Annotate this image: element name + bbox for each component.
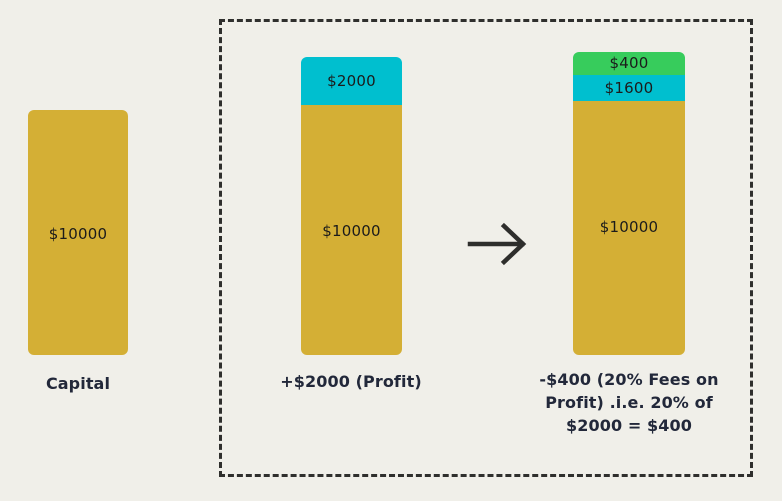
bar-caption-fees-line3: $2000 = $400	[509, 414, 749, 437]
bar-fees: $400 $1600 $10000	[573, 52, 685, 355]
bar-caption-fees-line1: -$400 (20% Fees on	[509, 368, 749, 391]
bar-caption-profit: +$2000 (Profit)	[251, 370, 451, 393]
bar-caption-capital: Capital	[8, 372, 148, 395]
bar-caption-fees: -$400 (20% Fees on Profit) .i.e. 20% of …	[509, 368, 749, 438]
bar-group-capital: $10000	[28, 110, 128, 355]
bar-segment-label-capital-2: $10000	[322, 224, 380, 239]
bar-group-profit: $2000 $10000	[301, 57, 402, 355]
bar-segment-fees-3: $400	[573, 52, 685, 75]
bar-segment-label-capital-1: $10000	[49, 227, 107, 242]
bar-profit: $2000 $10000	[301, 57, 402, 355]
arrow-right-icon	[466, 218, 532, 270]
bar-caption-fees-line2: Profit) .i.e. 20% of	[509, 391, 749, 414]
bar-capital: $10000	[28, 110, 128, 355]
bar-segment-capital-3: $10000	[573, 101, 685, 355]
bar-group-fees: $400 $1600 $10000	[573, 52, 685, 355]
bar-segment-label-fees-3: $400	[610, 56, 649, 71]
bar-segment-label-capital-3: $10000	[600, 220, 658, 235]
diagram-canvas: $10000 Capital $2000 $10000 +$2000 (Prof…	[0, 0, 782, 501]
bar-segment-capital-2: $10000	[301, 105, 402, 355]
bar-segment-profit-2: $2000	[301, 57, 402, 105]
bar-segment-capital-1: $10000	[28, 110, 128, 355]
bar-segment-label-profit-2: $2000	[327, 74, 376, 89]
bar-segment-profit-3: $1600	[573, 75, 685, 101]
bar-segment-label-profit-3: $1600	[605, 81, 654, 96]
bar-caption-capital-text: Capital	[46, 374, 110, 393]
bar-caption-profit-text: +$2000 (Profit)	[280, 372, 421, 391]
